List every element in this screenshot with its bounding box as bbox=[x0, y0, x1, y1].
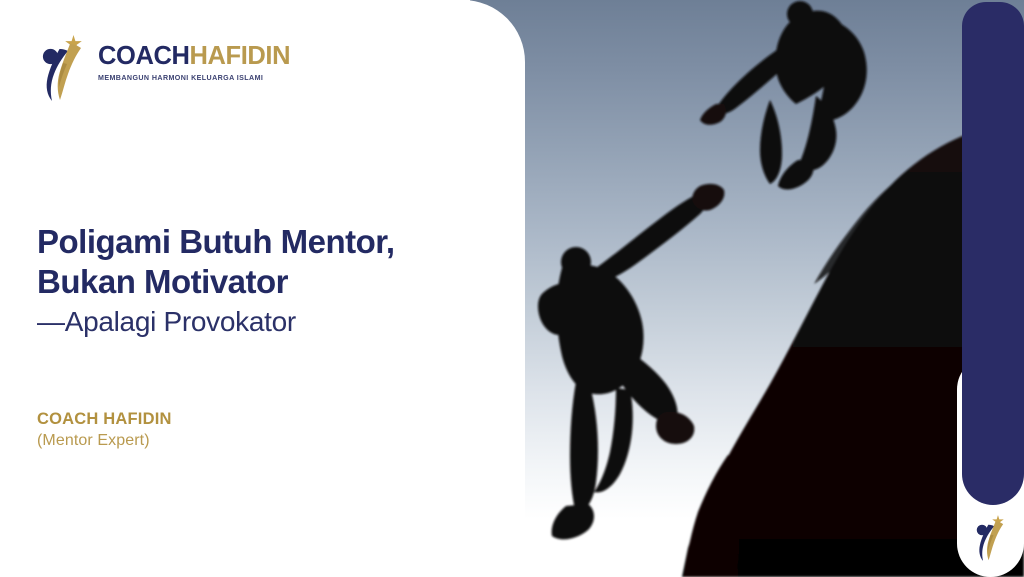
photo-silhouettes bbox=[470, 0, 1024, 577]
page-title: Poligami Butuh Mentor, Bukan Motivator —… bbox=[37, 222, 457, 340]
hero-photo bbox=[470, 0, 1024, 577]
logo-word-hafidin: HAFIDIN bbox=[190, 42, 291, 70]
climber-lower bbox=[538, 184, 724, 539]
author-name: COACH HAFIDIN bbox=[37, 408, 337, 430]
author-role: (Mentor Expert) bbox=[37, 430, 337, 452]
brand-logo[interactable]: COACHHAFIDIN MEMBANGUN HARMONI KELUARGA … bbox=[36, 32, 266, 104]
headline-line-3: —Apalagi Provokator bbox=[37, 304, 457, 340]
slide-canvas: COACHHAFIDIN MEMBANGUN HARMONI KELUARGA … bbox=[0, 0, 1024, 577]
person-star-swoosh-icon bbox=[968, 513, 1012, 563]
right-navy-panel bbox=[962, 2, 1024, 505]
logo-tagline: MEMBANGUN HARMONI KELUARGA ISLAMI bbox=[98, 74, 278, 82]
headline-line-1: Poligami Butuh Mentor, bbox=[37, 222, 457, 262]
author-credit: COACH HAFIDIN (Mentor Expert) bbox=[37, 408, 337, 452]
logo-word-row: COACHHAFIDIN bbox=[98, 44, 278, 70]
person-star-swoosh-icon bbox=[36, 32, 88, 104]
logo-wordmark: COACHHAFIDIN MEMBANGUN HARMONI KELUARGA … bbox=[98, 44, 278, 82]
climber-upper bbox=[700, 1, 867, 189]
logo-word-coach: COACH bbox=[98, 42, 190, 70]
headline-line-2: Bukan Motivator bbox=[37, 262, 457, 302]
rock-spur bbox=[684, 455, 740, 577]
